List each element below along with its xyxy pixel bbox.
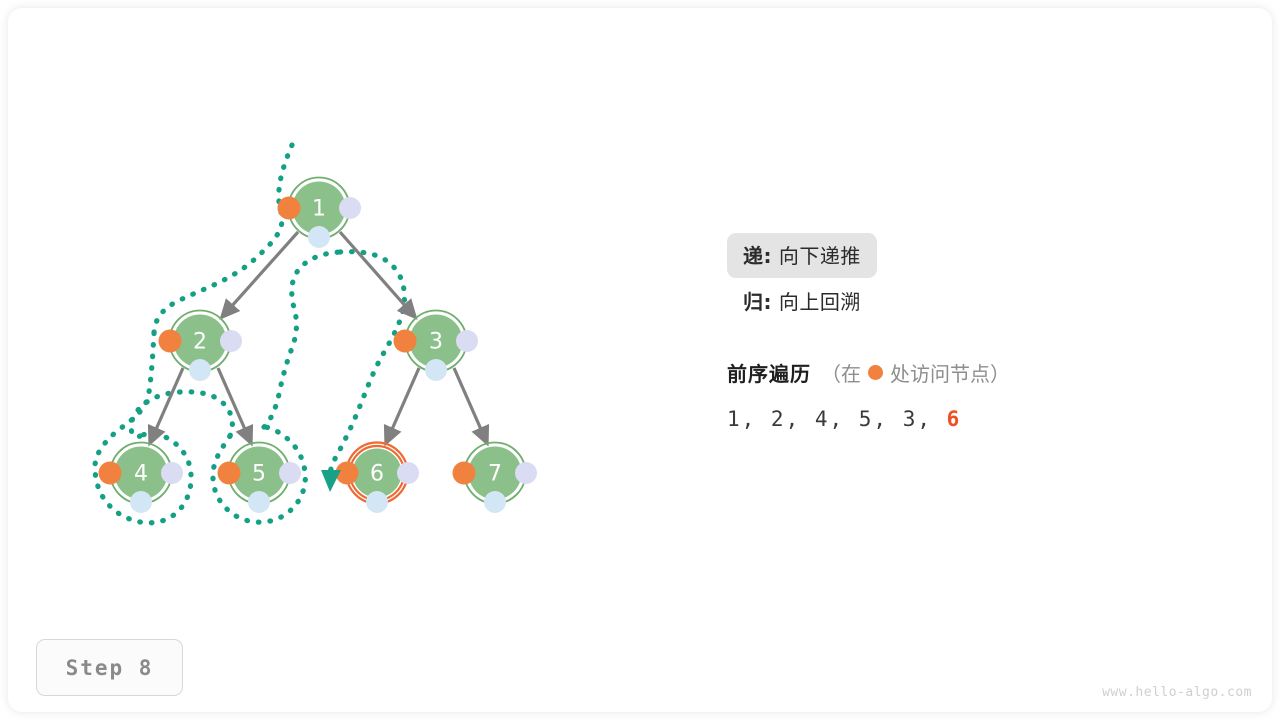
traversal-note-suffix: 处访问节点） bbox=[890, 358, 1010, 387]
node-bottom-port-dot bbox=[130, 491, 152, 513]
trace-seg-5-back-to-root bbox=[264, 252, 340, 427]
node-label: 3 bbox=[429, 330, 443, 355]
node-right-port-dot bbox=[339, 197, 361, 219]
node-visit-dot bbox=[218, 462, 241, 485]
traversal-cursor-icon bbox=[321, 470, 341, 492]
watermark: www.hello-algo.com bbox=[1102, 685, 1252, 700]
edge-3-6 bbox=[386, 368, 419, 443]
node-label: 2 bbox=[193, 330, 207, 355]
legend-chip-pop: 归: 向上回溯 bbox=[727, 279, 877, 324]
legend-value-pop: 向上回溯 bbox=[779, 290, 861, 314]
node-right-port-dot bbox=[161, 462, 183, 484]
traversal-sequence: 1, 2, 4, 5, 3, 6 bbox=[727, 407, 1227, 431]
legend-panel: 递: 向下递推 归: 向上回溯 bbox=[727, 232, 1197, 324]
visit-dot-icon bbox=[868, 365, 883, 380]
node-bottom-port-dot bbox=[484, 491, 506, 513]
node-right-port-dot bbox=[220, 330, 242, 352]
legend-key-pop: 归: bbox=[743, 290, 772, 314]
tree-node-7[interactable]: 7 bbox=[453, 443, 538, 514]
traversal-order-title: 前序遍历 （在 处访问节点） bbox=[727, 358, 1227, 387]
page-root: 1 2 3 bbox=[0, 0, 1280, 720]
node-visit-dot bbox=[99, 462, 122, 485]
node-visit-dot bbox=[278, 197, 301, 220]
traversal-sequence-visited: 1, 2, 4, 5, 3, bbox=[727, 407, 932, 431]
edge-3-7 bbox=[454, 368, 487, 443]
node-label: 6 bbox=[370, 462, 384, 487]
legend-row-push: 递: 向下递推 bbox=[727, 232, 1197, 278]
node-visit-dot bbox=[394, 330, 417, 353]
legend-value-push: 向下递推 bbox=[779, 244, 861, 268]
node-bottom-port-dot bbox=[308, 226, 330, 248]
node-bottom-port-dot bbox=[189, 359, 211, 381]
edge-2-4 bbox=[150, 368, 183, 443]
node-right-port-dot bbox=[279, 462, 301, 484]
node-visit-dot bbox=[453, 462, 476, 485]
node-label: 7 bbox=[488, 462, 502, 487]
traversal-note-prefix: （在 bbox=[821, 358, 861, 387]
legend-key-push: 递: bbox=[743, 244, 772, 268]
node-label: 1 bbox=[312, 197, 326, 222]
legend-chip-push: 递: 向下递推 bbox=[727, 233, 877, 278]
node-bottom-port-dot bbox=[248, 491, 270, 513]
node-right-port-dot bbox=[397, 462, 419, 484]
trace-seg-root-to-6 bbox=[330, 252, 404, 473]
traversal-order-block: 前序遍历 （在 处访问节点） 1, 2, 4, 5, 3, 6 bbox=[727, 358, 1227, 431]
step-badge-label: Step 8 bbox=[66, 656, 154, 680]
trace-seg-root-to-2 bbox=[154, 145, 292, 333]
node-label: 4 bbox=[134, 462, 148, 487]
tree-node-2[interactable]: 2 bbox=[159, 311, 243, 382]
edge-1-3 bbox=[340, 232, 415, 317]
tree-node-4[interactable]: 4 bbox=[99, 443, 184, 514]
trace-seg-4-to-5-bridge bbox=[131, 392, 232, 437]
traversal-sequence-current: 6 bbox=[947, 407, 962, 431]
node-bottom-port-dot bbox=[425, 359, 447, 381]
step-badge: Step 8 bbox=[36, 639, 183, 696]
legend-row-pop: 归: 向上回溯 bbox=[727, 278, 1197, 324]
node-visit-dot bbox=[159, 330, 182, 353]
node-bottom-port-dot bbox=[366, 491, 388, 513]
tree-node-5[interactable]: 5 bbox=[218, 443, 302, 514]
node-right-port-dot bbox=[456, 330, 478, 352]
node-label: 5 bbox=[252, 462, 266, 487]
tree-node-6[interactable]: 6 bbox=[336, 443, 420, 514]
tree-node-1[interactable]: 1 bbox=[278, 178, 362, 249]
traversal-type-label: 前序遍历 bbox=[727, 358, 811, 387]
node-right-port-dot bbox=[515, 462, 537, 484]
tree-node-3[interactable]: 3 bbox=[394, 311, 479, 382]
